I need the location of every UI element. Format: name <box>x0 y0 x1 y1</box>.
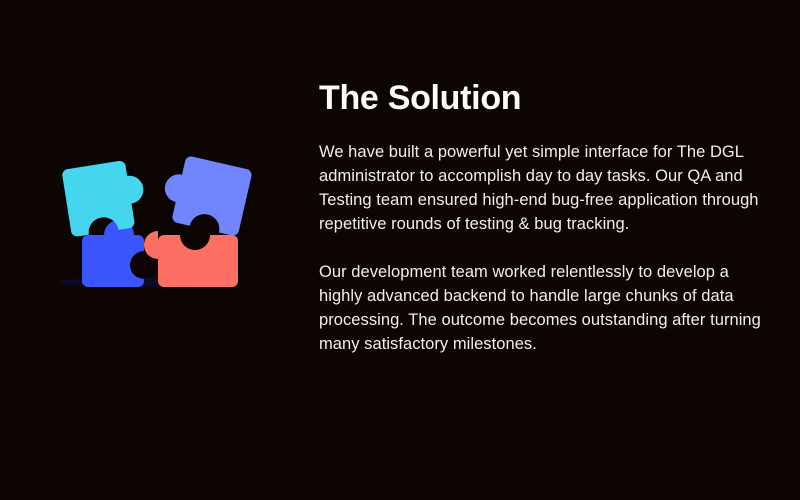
top-right-piece-group <box>158 152 253 237</box>
top-left-piece <box>61 158 149 237</box>
puzzle-illustration-svg <box>0 140 300 310</box>
slide: The Solution We have built a powerful ye… <box>0 0 800 500</box>
body-paragraph-1: We have built a powerful yet simple inte… <box>319 140 771 236</box>
content-column: The Solution We have built a powerful ye… <box>319 78 771 356</box>
bottom-left-piece <box>82 220 144 287</box>
bottom-right-piece <box>144 231 238 287</box>
puzzle-illustration <box>0 140 300 310</box>
top-right-piece <box>158 152 253 237</box>
top-left-piece-group <box>61 158 149 237</box>
body-paragraph-2: Our development team worked relentlessly… <box>319 260 771 356</box>
page-title: The Solution <box>319 78 771 118</box>
